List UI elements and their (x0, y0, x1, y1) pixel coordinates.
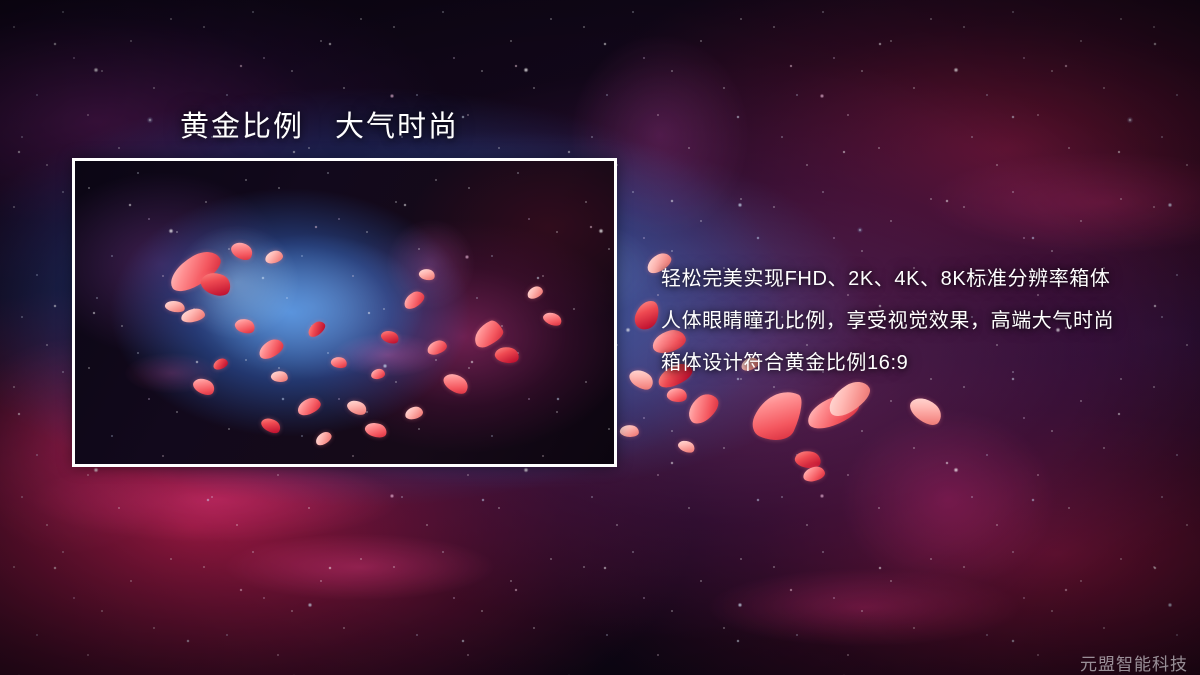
frame-starfield-large (75, 161, 614, 464)
image-frame (72, 158, 617, 467)
presentation-slide: 黄金比例 大气时尚 轻松完美实现FHD、2K、4K、8K标准分辨率箱体 人体眼睛… (0, 0, 1200, 675)
image-frame-content (75, 161, 614, 464)
body-line-2: 人体眼睛瞳孔比例，享受视觉效果，高端大气时尚 (661, 300, 1181, 342)
watermark: 元盟智能科技 (1080, 650, 1188, 675)
body-line-3: 箱体设计符合黄金比例16:9 (661, 342, 1181, 384)
slide-body-text: 轻松完美实现FHD、2K、4K、8K标准分辨率箱体 人体眼睛瞳孔比例，享受视觉效… (661, 258, 1181, 384)
slide-title: 黄金比例 大气时尚 (180, 103, 459, 145)
body-line-1: 轻松完美实现FHD、2K、4K、8K标准分辨率箱体 (661, 258, 1181, 300)
